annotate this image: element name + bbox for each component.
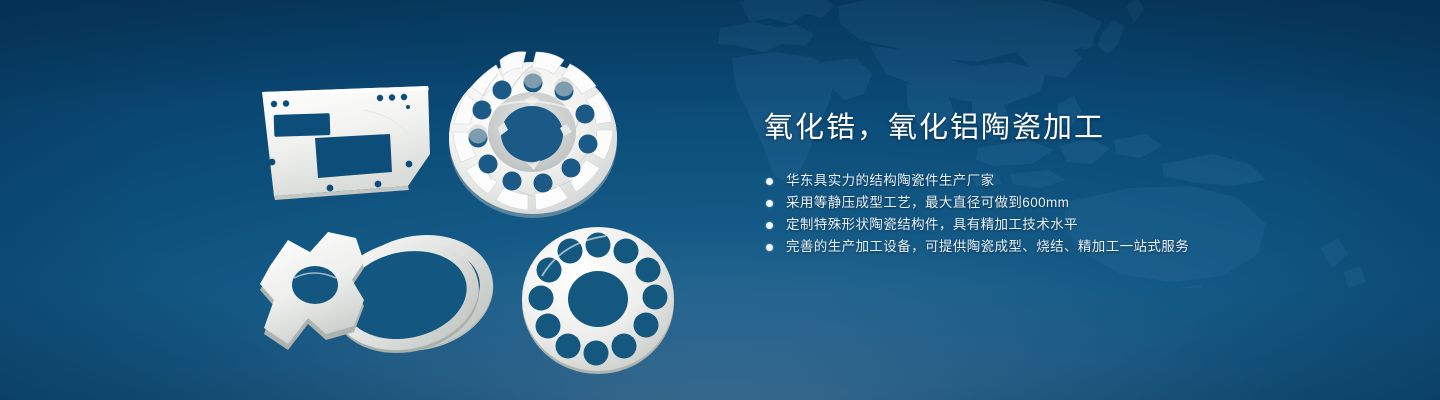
bullet-dot-icon bbox=[766, 222, 773, 229]
ceramic-perforated-disc bbox=[512, 222, 684, 376]
list-item-label: 完善的生产加工设备，可提供陶瓷成型、烧结、精加工一站式服务 bbox=[786, 239, 1189, 254]
page-title: 氧化锆，氧化铝陶瓷加工 bbox=[764, 108, 1364, 148]
ceramic-cross-plate bbox=[260, 232, 364, 350]
list-item-label: 华东具实力的结构陶瓷件生产厂家 bbox=[786, 173, 995, 188]
bullet-dot-icon bbox=[766, 244, 773, 251]
product-hero-banner: 氧化锆，氧化铝陶瓷加工 华东具实力的结构陶瓷件生产厂家 采用等静压成型工艺，最大… bbox=[0, 0, 1440, 400]
list-item-label: 采用等静压成型工艺，最大直径可做到600mm bbox=[786, 195, 1069, 210]
feature-list: 华东具实力的结构陶瓷件生产厂家 采用等静压成型工艺，最大直径可做到600mm 定… bbox=[764, 170, 1364, 258]
bullet-dot-icon bbox=[766, 178, 773, 185]
list-item: 采用等静压成型工艺，最大直径可做到600mm bbox=[764, 192, 1364, 214]
ceramic-cross-plate-and-rings bbox=[248, 222, 520, 374]
bullet-dot-icon bbox=[766, 200, 773, 207]
banner-copy: 氧化锆，氧化铝陶瓷加工 华东具实力的结构陶瓷件生产厂家 采用等静压成型工艺，最大… bbox=[764, 108, 1364, 258]
ceramic-impeller-rotor bbox=[440, 46, 626, 224]
list-item: 定制特殊形状陶瓷结构件，具有精加工技术水平 bbox=[764, 214, 1364, 236]
list-item: 华东具实力的结构陶瓷件生产厂家 bbox=[764, 170, 1364, 192]
ceramic-plate-with-cutouts bbox=[252, 76, 442, 206]
list-item-label: 定制特殊形状陶瓷结构件，具有精加工技术水平 bbox=[786, 217, 1078, 232]
list-item: 完善的生产加工设备，可提供陶瓷成型、烧结、精加工一站式服务 bbox=[764, 236, 1364, 258]
product-images-group bbox=[0, 0, 720, 400]
